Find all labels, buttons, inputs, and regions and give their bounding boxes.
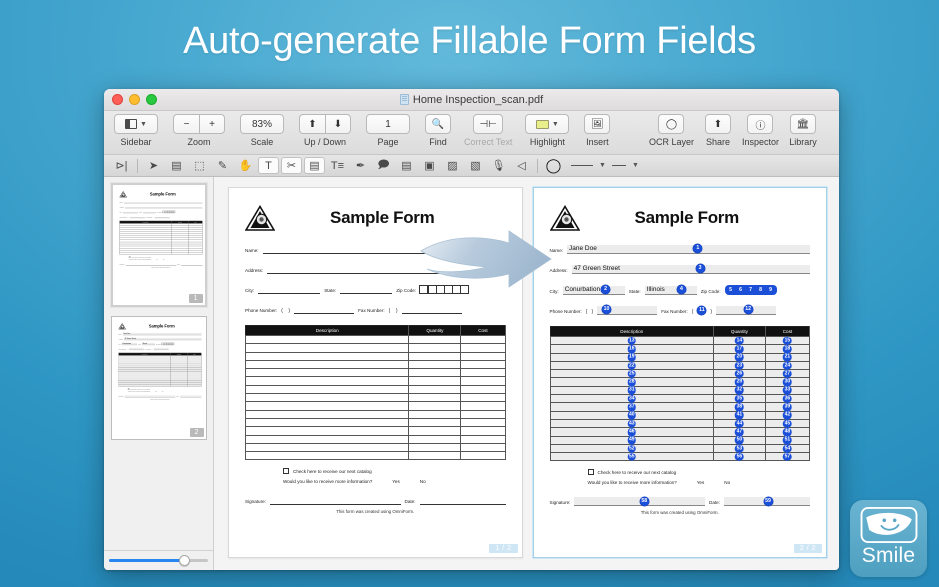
table-cell[interactable] [461,352,505,360]
address-row: Address: 47 Green Street 3 [550,265,811,274]
info-question-row: Would you like to receive more informati… [283,479,506,484]
fax-field[interactable]: 12 [716,306,776,315]
page-right[interactable]: Sample Form Name: Jane Doe 1 Address: 47… [533,187,828,558]
table-row[interactable]: 252627 [550,370,810,378]
date-line [181,263,202,265]
field-badge-16: 16 [627,345,636,354]
table-row[interactable]: 373839 [550,403,810,411]
fax-paren: ( ) [389,308,398,314]
form-footer: Check here to receive our next catalog W… [245,468,506,514]
info-question: Would you like to receive more informati… [283,479,372,484]
omniform-logo-icon [119,191,126,197]
toolbar-divider [537,159,538,173]
table-cell[interactable] [246,435,409,443]
table-cell[interactable] [461,418,505,426]
catalog-checkbox[interactable] [127,388,128,389]
table-header-row: Description Quantity Cost [550,327,810,337]
address-label: Address: [550,268,568,274]
table-body [246,336,506,460]
date-line[interactable] [420,496,506,505]
table-cell-field[interactable]: 48 [765,428,809,436]
city-field[interactable]: Conurbation 2 [563,286,625,295]
table-cell[interactable] [246,452,409,460]
table-cell-field[interactable]: 52 [550,444,713,452]
field-badge-28: 28 [627,378,636,387]
table-cell[interactable] [461,410,505,418]
phone-line [129,216,144,218]
table-cell-field[interactable]: 18 [765,345,809,353]
field-badge-fax-area: 11 [697,306,706,315]
table-cell-field[interactable]: 38 [713,403,765,411]
table-row[interactable] [246,352,506,360]
table-cell-field[interactable]: 14 [713,337,765,345]
address-label: Address: [118,339,123,340]
table-cell[interactable] [409,369,461,377]
address-line[interactable] [267,265,505,274]
table-cell-field[interactable]: 47 [713,428,765,436]
fax-line[interactable] [153,348,168,350]
table-cell-field[interactable]: 32 [713,386,765,394]
table-row[interactable] [246,402,506,410]
window-body: Sample Form Name: Address: City: State: … [104,177,839,570]
catalog-checkbox[interactable] [283,468,289,474]
table-cell[interactable] [246,344,409,352]
table-cell[interactable] [246,394,409,402]
table-cell-field[interactable]: 24 [765,361,809,369]
mic-tool[interactable]: 🎙 [488,157,509,174]
app-window: Home Inspection_scan.pdf ▼ Sidebar − + Z… [104,89,839,570]
address-line[interactable]: 47 Green Street [123,338,200,340]
table-cell-field[interactable]: 26 [713,370,765,378]
signature-label: Signature: [245,499,266,505]
signature-line[interactable] [124,395,175,397]
city-label: City: [119,212,121,213]
state-label: State: [138,344,141,345]
table-cell[interactable] [461,377,505,385]
table-row[interactable] [246,385,506,393]
table-cell[interactable] [409,435,461,443]
hand-tool[interactable]: ✋ [235,157,256,174]
crop-tool[interactable]: ⬚ [189,157,210,174]
zip-field-badges[interactable]: 56789 [725,285,777,295]
table-cell[interactable] [246,443,409,451]
table-body-blank [119,223,202,254]
made-with-note: This form was created using OmniForm. [245,509,506,514]
field-badge-14: 14 [735,336,744,345]
field-badge-27: 27 [783,370,792,379]
phone-field[interactable]: 10 [597,306,657,315]
library-label: Library [789,137,817,147]
stamp-tool[interactable]: ▨ [442,157,463,174]
field-badge-55: 55 [627,453,636,462]
phone-fax-row: Phone Number: ( ) 10 Fax Number: ( 11 ) … [550,306,811,315]
table-cell-field[interactable]: 43 [550,419,713,427]
table-cell[interactable] [461,336,505,344]
table-cell[interactable] [409,385,461,393]
thumbnail-sidebar: Sample Form Name: Address: City: State: … [104,177,214,570]
th-quantity: Quantity [713,327,765,337]
insert-page-icon: 🖼 [591,119,604,130]
table-cell-field[interactable]: 34 [550,395,713,403]
field-badge-50: 50 [735,436,744,445]
page-title: Auto-generate Fillable Form Fields [0,20,939,63]
table-cell[interactable] [409,452,461,460]
table-cell[interactable] [461,402,505,410]
city-label: City: [118,344,120,345]
form-footer: Check here to receive our next catalog W… [550,469,811,515]
share-button[interactable]: ⬆ [705,114,731,134]
table-cell[interactable] [409,344,461,352]
table-cell-field[interactable]: 29 [713,378,765,386]
table-cell[interactable] [246,369,409,377]
line-style-picker[interactable]: ▼ [612,162,639,169]
field-badge-35: 35 [735,394,744,403]
scale-value[interactable]: 83% [240,114,284,134]
table-row[interactable]: 222324 [550,361,810,369]
table-cell-field[interactable]: 13 [550,337,713,345]
name-line[interactable] [263,245,506,254]
table-cell-field[interactable]: 41 [713,411,765,419]
made-with-note: This form was created using OmniForm. [118,399,201,400]
zip-label: Zip Code: [157,212,162,213]
table-cell-field[interactable]: 37 [550,403,713,411]
table-cell-field[interactable]: 22 [550,361,713,369]
phone-line[interactable] [294,305,354,314]
table-row[interactable]: 131415 [550,337,810,345]
page-indicator-left: 1 / 2 [489,544,517,553]
table-cell-field[interactable]: 17 [713,345,765,353]
table-cell[interactable] [461,344,505,352]
table-cell-field[interactable]: 54 [765,444,809,452]
speaker-tool[interactable]: ◁ [511,157,532,174]
zip-badge-8: 8 [756,286,765,295]
info-circle-icon: ⓘ [755,117,765,132]
table-cell-field[interactable]: 50 [713,436,765,444]
no-label: No [420,479,426,484]
correct-text-button[interactable]: ⊣⊢ [473,114,502,134]
table-cell-field[interactable]: 40 [550,411,713,419]
address-label: Address: [245,268,263,274]
zoom-in-button[interactable]: + [199,114,225,134]
signature-field[interactable]: 58 [574,497,705,506]
text-select-tool[interactable]: ⊳| [111,157,132,174]
name-line[interactable]: Jane Doe [122,333,201,335]
table-row[interactable] [246,394,506,402]
table-row[interactable]: 555657 [550,453,810,461]
table-cell[interactable] [409,377,461,385]
table-cell[interactable] [461,452,505,460]
table-header-row: Description Quantity Cost [246,326,506,336]
table-row[interactable] [246,336,506,344]
table-cell[interactable] [461,435,505,443]
table-cell[interactable] [246,402,409,410]
yes-label: Yes [155,391,157,392]
table-row[interactable]: 282930 [550,378,810,386]
field-badge-49: 49 [627,436,636,445]
table-cell[interactable] [461,360,505,368]
table-cell[interactable] [409,418,461,426]
catalog-row: Check here to receive our next catalog [283,468,506,474]
thumbnail-zoom-slider[interactable] [109,559,208,562]
catalog-checkbox[interactable] [128,256,129,257]
signature-row: Signature: 58 Date: 59 [550,497,811,506]
table-cell-field[interactable]: 25 [550,370,713,378]
table-cell-field[interactable]: 42 [765,411,809,419]
field-badge-15: 15 [783,336,792,345]
sidebar-toggle-button[interactable]: ▼ [114,114,158,134]
catalog-checkbox[interactable] [588,469,594,475]
page-number-field[interactable]: 1 [366,114,410,134]
table-cell[interactable] [461,394,505,402]
name-row: Name: [245,245,506,254]
correct-text-icon: ⊣⊢ [479,119,496,130]
smile-face-logo [860,507,918,543]
signature-line[interactable] [270,496,401,505]
table-cell[interactable] [246,360,409,368]
date-field[interactable]: 59 [724,497,810,506]
table-cell-field[interactable]: 20 [713,353,765,361]
thumbnail-preview-2: Sample Form Name:Jane Doe Address:47 Gre… [112,317,207,406]
table-row[interactable] [246,410,506,418]
field-badge-24: 24 [783,361,792,370]
table-cell[interactable] [409,394,461,402]
table-row[interactable]: 161718 [550,345,810,353]
table-cell[interactable] [461,369,505,377]
zip-label: Zip Code: [701,289,721,295]
zip-boxes[interactable] [420,285,469,294]
table-cell-field[interactable]: 21 [765,353,809,361]
field-badge-26: 26 [735,370,744,379]
table-cell[interactable] [461,385,505,393]
table-row[interactable]: 434445 [550,419,810,427]
table-cell-field[interactable]: 57 [765,453,809,461]
signature-line [125,263,176,265]
signature-label: Signature: [119,264,124,265]
table-row[interactable] [246,435,506,443]
field-badge-20: 20 [735,353,744,362]
page-up-button[interactable]: ⬆ [299,114,325,134]
table-cell-field[interactable]: 39 [765,403,809,411]
table-row[interactable] [246,418,506,426]
marker-tool[interactable]: ✒ [350,157,371,174]
toolbar-group-scale: 83% Scale [238,114,286,147]
thumbnail-page-2[interactable]: Sample Form Name:Jane Doe Address:47 Gre… [111,316,207,440]
note-tool[interactable]: ▣ [419,157,440,174]
find-button[interactable]: 🔍 [425,114,451,134]
table-row[interactable]: 404142 [550,411,810,419]
state-line[interactable]: Illinois [142,343,155,345]
city-value: Conurbation [565,286,600,293]
catalog-row: Check here to receive our next catalog [588,469,811,475]
state-line [143,211,156,213]
table-cell[interactable] [461,427,505,435]
edit-text-tool[interactable]: T [258,157,279,174]
table-cell-field[interactable]: 44 [713,419,765,427]
table-cell-field[interactable]: 30 [765,378,809,386]
field-badge-37: 37 [627,403,636,412]
table-cell-field[interactable]: 51 [765,436,809,444]
toolbar-group-ocr: ◯ OCR Layer [649,114,694,147]
catalog-checkbox-label: Check here to receive our next catalog [130,389,150,390]
items-table: Description Quantity Cost [245,325,506,460]
table-cell[interactable] [409,352,461,360]
window-title-text: Home Inspection_scan.pdf [413,94,543,106]
name-value: Jane Doe [569,245,597,252]
table-cell-field[interactable]: 23 [713,361,765,369]
table-row[interactable]: 464748 [550,428,810,436]
city-line [122,211,137,213]
table-cell[interactable] [409,443,461,451]
line-weight-preview [571,165,593,166]
ocr-layer-button[interactable]: ◯ [658,114,684,134]
highlight-button[interactable]: ▼ [525,114,569,134]
list-tool[interactable]: ▤ [396,157,417,174]
fax-paren-close: ) [710,309,712,315]
table-cell-field[interactable]: 27 [765,370,809,378]
page-down-button[interactable]: ⬇ [325,114,351,134]
phone-label: Phone Number: [245,308,277,314]
form-title: Sample Form [285,208,506,228]
table-row[interactable]: 192021 [550,353,810,361]
no-label: No [161,391,162,392]
th-cost: Cost [461,326,505,336]
address-label: Address: [119,207,124,208]
table-row[interactable]: 343536 [550,395,810,403]
phone-line[interactable] [128,348,143,350]
table-cell-field[interactable]: 31 [550,386,713,394]
state-field[interactable]: Illinois 4 [645,286,697,295]
comment-tool[interactable]: 🗩 [373,157,394,174]
table-row[interactable] [246,443,506,451]
table-cell[interactable] [409,336,461,344]
page-left[interactable]: Sample Form Name: Address: City: State: [228,187,523,558]
table-row[interactable] [246,360,506,368]
insert-button[interactable]: 🖼 [584,114,610,134]
table-cell-field[interactable]: 36 [765,395,809,403]
pencil-tool[interactable]: ✎ [212,157,233,174]
thumbnail-page-number: 1 [189,294,203,303]
arrow-select-tool[interactable]: ➤ [143,157,164,174]
table-row[interactable]: 495051 [550,436,810,444]
form-header: Sample Form [245,205,506,231]
table-cell-field[interactable]: 28 [550,378,713,386]
document-icon [400,94,409,105]
catalog-checkbox-label: Check here to receive our next catalog [598,470,677,475]
table-cell-field[interactable]: 45 [765,419,809,427]
table-cell[interactable] [246,427,409,435]
chevron-down-icon: ▼ [632,162,639,169]
table-cell[interactable] [409,410,461,418]
state-line[interactable] [340,285,392,294]
table-row[interactable]: 313233 [550,386,810,394]
state-label: State: [629,289,641,295]
table-cell-field[interactable]: 49 [550,436,713,444]
redact-tool[interactable]: ✂ [281,157,302,174]
field-badge-56: 56 [735,453,744,462]
field-badge-46: 46 [627,428,636,437]
document-canvas[interactable]: Sample Form Name: Address: City: State: [214,177,839,570]
address-value: 47 Green Street [574,265,620,272]
toolbar-group-library: 🏛 Library [788,114,818,147]
table-cell-field[interactable]: 55 [550,453,713,461]
table-cell[interactable] [409,402,461,410]
toolbar-group-share: ⬆ Share [703,114,733,147]
inspector-button[interactable]: ⓘ [747,114,773,134]
table-row[interactable] [246,344,506,352]
thumbnail-page-1[interactable]: Sample Form Name: Address: City: State: … [111,183,207,307]
table-cell[interactable] [461,443,505,451]
field-badge-36: 36 [783,394,792,403]
signature-label: Signature: [118,396,123,397]
signature-row: Signature: Date: [245,496,506,505]
phone-paren: ( ) [281,308,290,314]
line-weight-picker[interactable]: ▼ [571,162,606,169]
table-row[interactable] [246,377,506,385]
table-cell-field[interactable]: 46 [550,428,713,436]
field-badge-57: 57 [783,453,792,462]
table-cell[interactable] [246,352,409,360]
field-badge-fax: 12 [744,305,753,314]
items-table: Description Quantity Cost [119,221,202,255]
table-row[interactable] [246,369,506,377]
name-row: Name: Jane Doe 1 [550,245,811,254]
field-badge-48: 48 [783,428,792,437]
table-cell[interactable] [246,410,409,418]
table-cell-field[interactable]: 16 [550,345,713,353]
city-line[interactable]: Conurbation [121,343,136,345]
table-cell[interactable] [246,385,409,393]
table-cell-field[interactable]: 53 [713,444,765,452]
table-cell-field[interactable]: 19 [550,353,713,361]
form-field-tool[interactable]: ▤ [304,157,325,174]
form-title: Sample Form [129,192,202,197]
share-icon: ⬆ [714,119,722,130]
slider-knob[interactable] [179,555,190,566]
text-box-tool[interactable]: ▤ [166,157,187,174]
field-badge-name: 1 [693,244,702,253]
music-tool[interactable]: ▧ [465,157,486,174]
city-line[interactable] [258,285,320,294]
table-cell-field[interactable]: 35 [713,395,765,403]
omniform-logo-icon [550,205,580,231]
table-cell[interactable] [246,418,409,426]
table-cell[interactable] [409,360,461,368]
table-cell-field[interactable]: 15 [765,337,809,345]
text-annotation-tool[interactable]: T≡ [327,157,348,174]
table-cell[interactable] [246,377,409,385]
phone-paren: ( ) [586,309,594,315]
address-line [124,206,201,208]
name-field[interactable]: Jane Doe 1 [567,245,810,254]
library-button[interactable]: 🏛 [790,114,816,134]
page-label: Page [377,137,398,147]
table-cell-field[interactable]: 56 [713,453,765,461]
form-header: Sample Form [550,205,811,231]
circle-shape-tool[interactable]: ◯ [543,157,564,174]
fax-line[interactable] [402,305,462,314]
omniform-logo-icon [118,323,125,329]
table-cell-field[interactable]: 33 [765,386,809,394]
table-cell[interactable] [409,427,461,435]
table-row[interactable] [246,452,506,460]
address-field[interactable]: 47 Green Street 3 [572,265,810,274]
field-badge-date: 59 [764,497,773,506]
zoom-out-button[interactable]: − [173,114,199,134]
table-row[interactable]: 525354 [550,444,810,452]
date-line[interactable] [180,395,201,397]
table-row[interactable] [246,427,506,435]
table-cell[interactable] [246,336,409,344]
